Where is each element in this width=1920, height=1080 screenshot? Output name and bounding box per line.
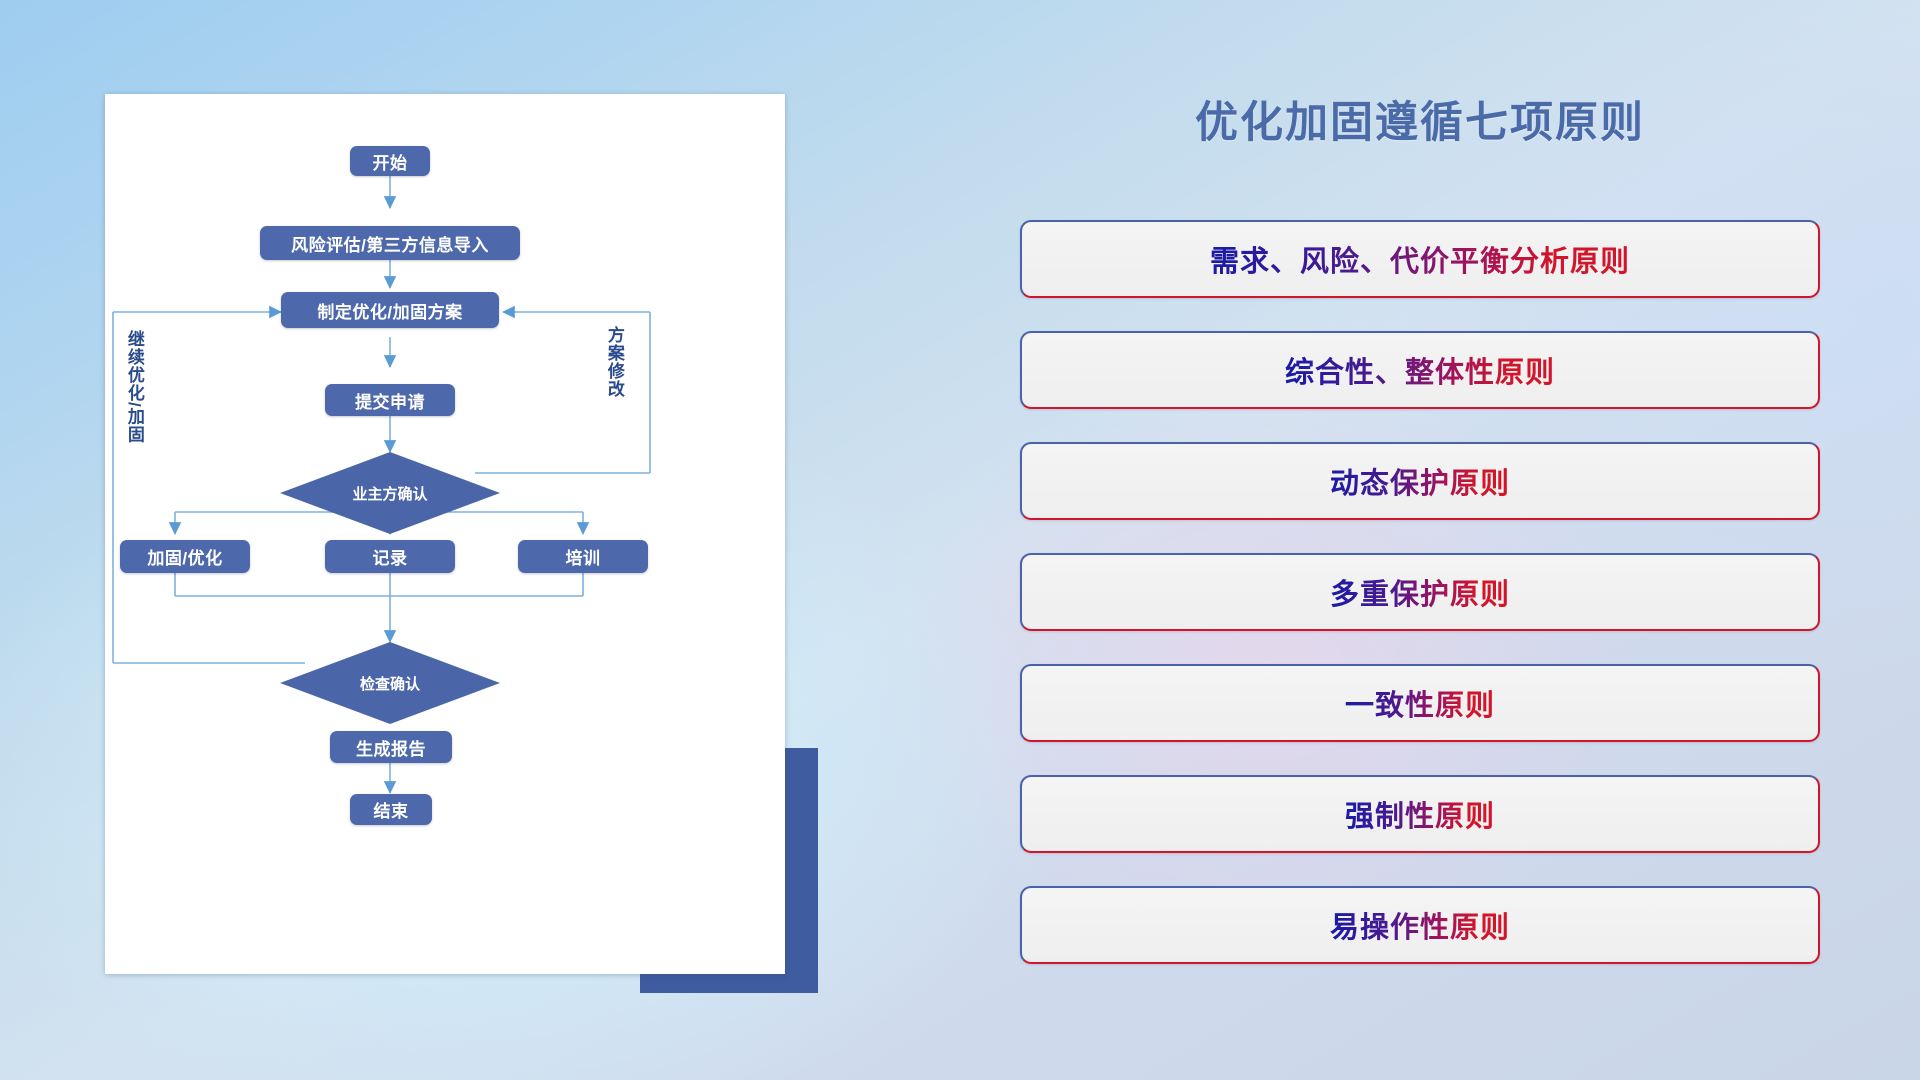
flow-node-reinforce-optimize[interactable]: 加固/优化 (120, 540, 250, 573)
principle-card[interactable]: 一致性原则 (1020, 664, 1820, 742)
principle-card[interactable]: 动态保护原则 (1020, 442, 1820, 520)
flow-node-submit-application[interactable]: 提交申请 (325, 384, 455, 416)
principle-card[interactable]: 综合性、整体性原则 (1020, 331, 1820, 409)
flow-node-generate-report[interactable]: 生成报告 (330, 731, 452, 763)
flow-node-risk-assessment[interactable]: 风险评估/第三方信息导入 (260, 226, 520, 260)
flow-node-training[interactable]: 培训 (518, 540, 648, 573)
principle-label: 一致性原则 (1345, 682, 1495, 724)
flow-node-start[interactable]: 开始 (350, 146, 430, 176)
principles-pane: 优化加固遵循七项原则 需求、风险、代价平衡分析原则 综合性、整体性原则 动态保护… (1020, 88, 1820, 1028)
principle-label: 综合性、整体性原则 (1285, 349, 1555, 391)
principles-list: 需求、风险、代价平衡分析原则 综合性、整体性原则 动态保护原则 多重保护原则 一… (1020, 220, 1820, 997)
principle-label: 需求、风险、代价平衡分析原则 (1210, 238, 1630, 280)
principle-label: 强制性原则 (1345, 793, 1495, 835)
principle-card[interactable]: 易操作性原则 (1020, 886, 1820, 964)
principles-title: 优化加固遵循七项原则 (1020, 88, 1820, 150)
principle-label: 多重保护原则 (1330, 571, 1510, 613)
flowchart-card: 开始 风险评估/第三方信息导入 制定优化/加固方案 提交申请 业主方确认 加固/… (105, 94, 785, 974)
flow-node-plan[interactable]: 制定优化/加固方案 (281, 292, 499, 328)
flow-edge-label-continue-loop: 继续优化/加固 (125, 330, 143, 444)
principle-card[interactable]: 多重保护原则 (1020, 553, 1820, 631)
flow-node-record[interactable]: 记录 (325, 540, 455, 573)
principle-card[interactable]: 强制性原则 (1020, 775, 1820, 853)
flow-node-end[interactable]: 结束 (350, 794, 432, 825)
flow-edge-label-plan-revise: 方案修改 (605, 326, 623, 398)
slide-canvas: 开始 风险评估/第三方信息导入 制定优化/加固方案 提交申请 业主方确认 加固/… (0, 0, 1920, 1080)
principle-card[interactable]: 需求、风险、代价平衡分析原则 (1020, 220, 1820, 298)
principle-label: 动态保护原则 (1330, 460, 1510, 502)
principle-label: 易操作性原则 (1330, 904, 1510, 946)
